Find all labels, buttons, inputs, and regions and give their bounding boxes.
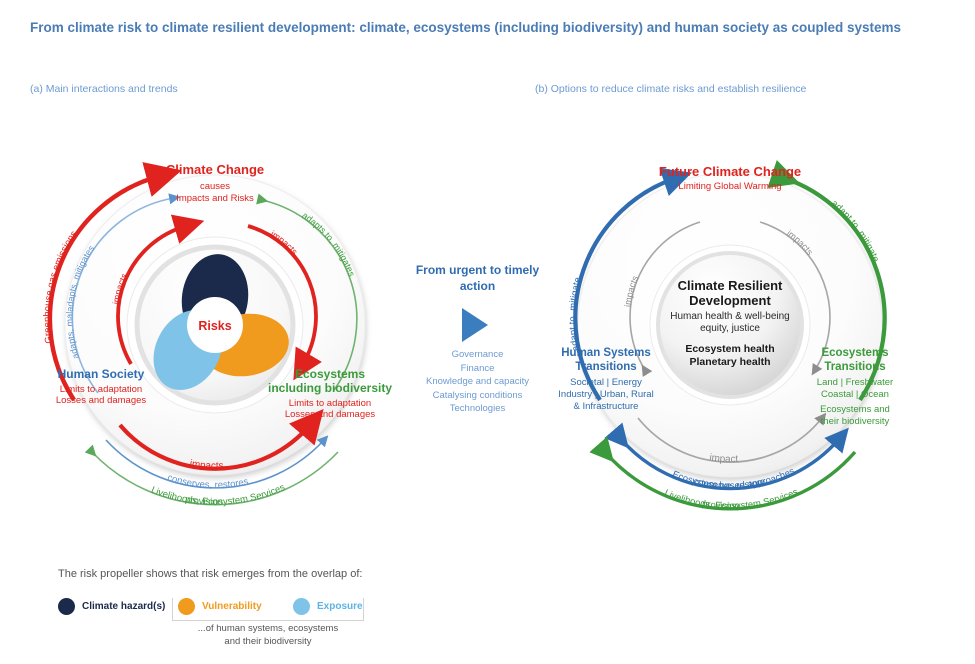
panel-a-left-sub-2: Losses and damages	[56, 395, 147, 406]
middle-option: Technologies	[400, 402, 555, 416]
panel-b-right-title-2: Transitions	[824, 361, 885, 373]
panel-a-left-title: Human Society	[58, 367, 145, 381]
panel-b-group: adapt to, mitigate impacts impacts adapt…	[558, 164, 893, 512]
panel-b-center-sub-2: equity, justice	[700, 323, 760, 334]
legend-item-vulnerability: Vulnerability	[178, 598, 262, 615]
panel-b-right-sub-1: Land | Freshwater	[817, 377, 893, 388]
panel-b-center-title-1: Climate Resilient	[678, 278, 783, 293]
panel-b-right-sub-2: Coastal | Ocean	[821, 389, 889, 400]
panel-a-right-sub-2: Losses and damages	[285, 409, 376, 420]
panel-a-right-sub-1: Limits to adaptation	[289, 398, 371, 409]
legend-footnote-line-1: ...of human systems, ecosystems	[172, 622, 364, 635]
panel-b-right-title-1: Ecosystems	[821, 347, 888, 359]
legend-heading: The risk propeller shows that risk emerg…	[58, 568, 362, 580]
panel-b-center-sub-1: Human health & well-being	[670, 311, 790, 322]
middle-options-list: Governance Finance Knowledge and capacit…	[400, 348, 555, 416]
legend-dot-icon	[58, 598, 75, 615]
middle-option: Knowledge and capacity	[400, 375, 555, 389]
panel-b-left-sub-3: & Infrastructure	[574, 401, 639, 412]
legend-dot-icon	[293, 598, 310, 615]
middle-heading: From urgent to timely action	[410, 262, 545, 294]
risks-label: Risks	[198, 319, 231, 333]
panel-b-center-bold-2: Planetary health	[689, 356, 770, 368]
legend-label: Exposure	[317, 601, 363, 612]
panel-b-center-title-2: Development	[689, 293, 771, 308]
legend-label: Vulnerability	[202, 601, 262, 612]
panel-b-left-sub-2: Industry | Urban, Rural	[558, 389, 653, 400]
panel-b-top-sub: Limiting Global Warming	[678, 181, 781, 192]
arc-label-bottom-impact-b: impact	[708, 452, 738, 465]
legend-footnote-line-2: and their biodiversity	[172, 635, 364, 648]
middle-option: Finance	[400, 362, 555, 376]
legend-footnote: ...of human systems, ecosystems and thei…	[172, 622, 364, 648]
panel-a-group: Risks Greenhouse gas emissions adapts, m…	[42, 162, 392, 508]
legend-item-exposure: Exposure	[293, 598, 363, 615]
panel-b-right-sub-3: Ecosystems and	[820, 404, 890, 415]
panel-a-top-title: Climate Change	[166, 162, 264, 177]
panel-a-top-sub-2: Impacts and Risks	[176, 193, 254, 204]
panel-b-left-sub-1: Societal | Energy	[570, 377, 642, 388]
panel-a-top-sub-1: causes	[200, 181, 230, 192]
panel-b-right-sub-4: their biodiversity	[821, 416, 890, 427]
legend-item-climate-hazard: Climate hazard(s)	[58, 598, 165, 615]
panel-b-center-bold-1: Ecosystem health	[685, 343, 774, 355]
panel-a-right-title-2: including biodiversity	[268, 381, 392, 395]
panel-a-right-title-1: Ecosystems	[295, 367, 365, 381]
panel-b-left-title-2: Transitions	[575, 361, 636, 373]
panel-a-left-sub-1: Limits to adaptation	[60, 384, 142, 395]
legend-dot-icon	[178, 598, 195, 615]
legend-label: Climate hazard(s)	[82, 601, 165, 612]
middle-option: Governance	[400, 348, 555, 362]
middle-option: Catalysing conditions	[400, 389, 555, 403]
panel-b-top-title: Future Climate Change	[659, 164, 801, 179]
triangle-right-icon	[462, 308, 488, 342]
panel-b-left-title-1: Human Systems	[561, 347, 650, 359]
